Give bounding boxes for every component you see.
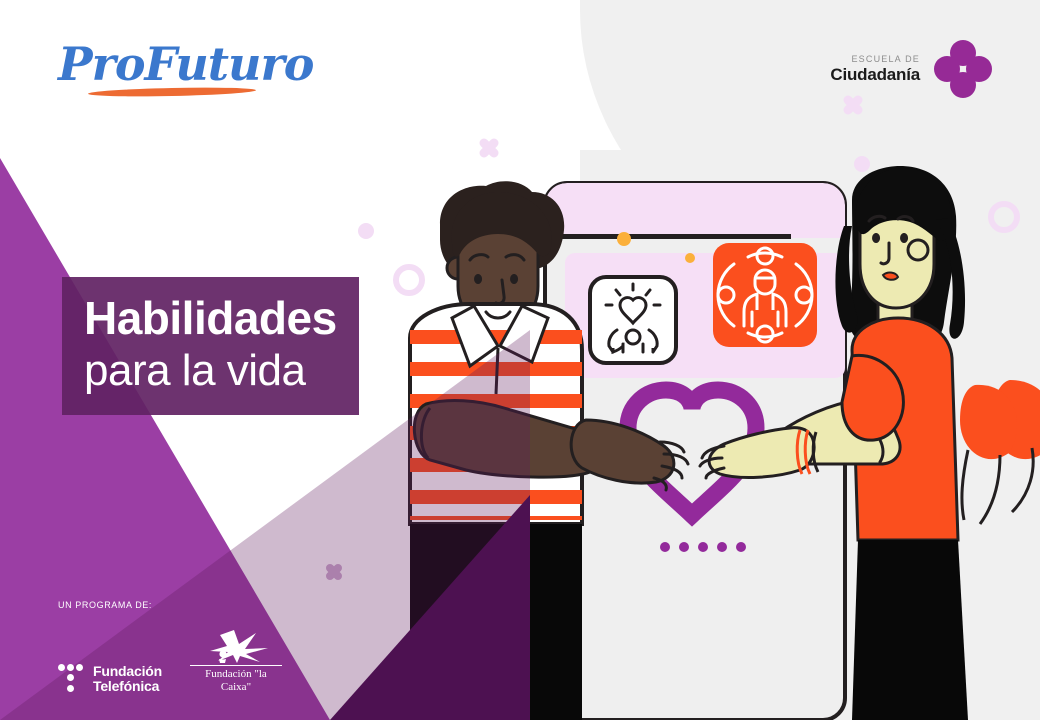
caixa-star-icon [190,628,282,664]
card-person-network [713,243,817,347]
telefonica-line-2: Telefónica [93,679,162,694]
profuturo-wordmark: ProFuturo [58,38,273,90]
fundacion-telefonica-logo: Fundación Telefónica [58,664,162,694]
telefonica-dots-icon [58,664,84,694]
escuela-text-block: ESCUELA DE Ciudadanía [830,53,920,85]
title-line-1: Habilidades [84,291,337,345]
escuela-ciudadania-logo: ESCUELA DE Ciudadanía [830,40,992,98]
telefonica-wordmark: Fundación Telefónica [93,664,162,694]
profuturo-logo: ProFuturo [58,38,273,100]
sponsors-block: UN PROGRAMA DE: Fundación Telefónica [58,600,282,694]
sponsors-row: Fundación Telefónica Fundación "la Caixa… [58,628,282,694]
caixa-divider [190,665,282,666]
orange-dot-large [617,232,631,246]
page-title: Habilidades para la vida [62,277,359,415]
slide-canvas: ProFuturo ESCUELA DE Ciudadanía Habilida… [0,0,1040,720]
telefonica-line-1: Fundación [93,664,162,679]
four-circle-diamond-icon [934,40,992,98]
plant-leaves [960,380,1040,524]
orange-dot-small [685,253,695,263]
escuela-sub-label: ESCUELA DE [830,53,920,65]
title-line-2: para la vida [84,345,337,397]
card-heart-hands [590,277,676,363]
sponsors-label: UN PROGRAMA DE: [58,600,282,610]
caixa-wordmark: Fundación "la Caixa" [190,668,282,694]
fundacion-la-caixa-logo: Fundación "la Caixa" [190,628,282,694]
escuela-main-label: Ciudadanía [830,65,920,85]
